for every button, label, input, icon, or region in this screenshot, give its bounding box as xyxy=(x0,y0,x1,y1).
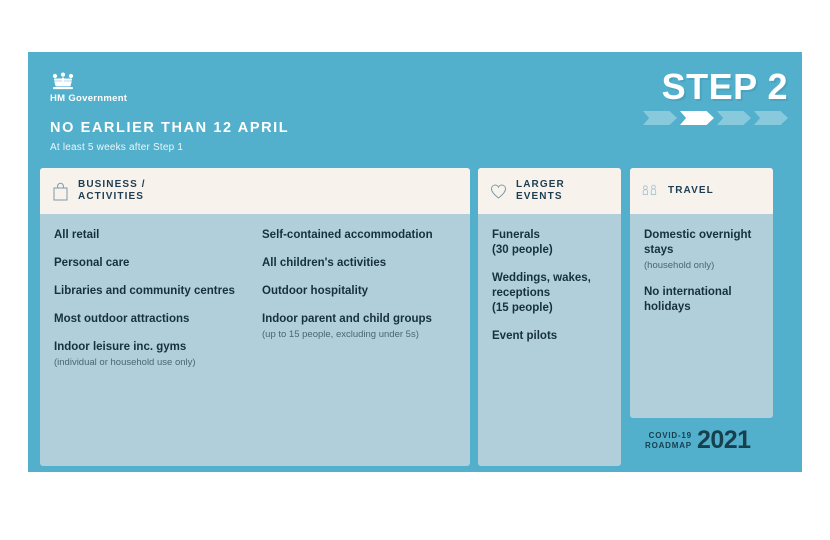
card-larger-events: LARGER EVENTS Funerals (30 people) Weddi… xyxy=(478,168,621,466)
list-item: Self-contained accommodation xyxy=(262,228,456,243)
card-travel: TRAVEL Domestic overnight stays (househo… xyxy=(630,168,773,418)
entry-text: Indoor parent and child groups xyxy=(262,312,456,327)
card-title-business: BUSINESS / ACTIVITIES xyxy=(78,179,146,204)
entry-text: Event pilots xyxy=(492,329,607,344)
shopping-bag-icon xyxy=(52,182,69,201)
royal-crown-icon xyxy=(50,72,76,90)
card-header-travel: TRAVEL xyxy=(630,168,773,214)
list-item: Domestic overnight stays (household only… xyxy=(644,228,759,272)
roadmap-line-2: ROADMAP xyxy=(645,441,692,451)
list-item: Weddings, wakes, receptions (15 people) xyxy=(492,271,607,316)
card-body-travel: Domestic overnight stays (household only… xyxy=(630,214,773,327)
card-business-activities: BUSINESS / ACTIVITIES All retail Persona… xyxy=(40,168,470,466)
list-item: Most outdoor attractions xyxy=(54,312,248,327)
page-title: NO EARLIER THAN 12 APRIL xyxy=(50,120,289,136)
list-item: Indoor leisure inc. gyms (individual or … xyxy=(54,340,248,369)
hm-government-logo: HM Government xyxy=(50,72,230,104)
business-column-2: Self-contained accommodation All childre… xyxy=(262,228,456,369)
entry-text: Self-contained accommodation xyxy=(262,228,456,243)
entry-text: Domestic overnight stays xyxy=(644,228,759,258)
list-item: Event pilots xyxy=(492,329,607,344)
step-progress xyxy=(643,111,788,125)
entry-text: Funerals (30 people) xyxy=(492,228,607,258)
step-chevron-3 xyxy=(717,111,751,125)
card-body-events: Funerals (30 people) Weddings, wakes, re… xyxy=(478,214,621,356)
list-item: All children's activities xyxy=(262,256,456,271)
roadmap-year: 2021 xyxy=(697,428,751,453)
list-item: Funerals (30 people) xyxy=(492,228,607,258)
roadmap-lines: COVID-19 ROADMAP xyxy=(645,431,692,450)
card-title-travel: TRAVEL xyxy=(668,185,714,198)
step-badge: STEP 2 xyxy=(643,68,788,125)
list-item: Personal care xyxy=(54,256,248,271)
list-item: Libraries and community centres xyxy=(54,284,248,299)
entry-text: No international holidays xyxy=(644,285,759,315)
events-column-1: Funerals (30 people) Weddings, wakes, re… xyxy=(492,228,607,344)
gov-name-label: HM Government xyxy=(50,93,230,104)
entry-text: All children's activities xyxy=(262,256,456,271)
business-column-1: All retail Personal care Libraries and c… xyxy=(54,228,248,369)
step-label: STEP 2 xyxy=(643,68,788,106)
step-chevron-4 xyxy=(754,111,788,125)
entry-note: (household only) xyxy=(644,259,759,272)
entry-note: (individual or household use only) xyxy=(54,356,248,369)
travellers-icon xyxy=(642,182,659,201)
entry-text: Personal care xyxy=(54,256,248,271)
covid-roadmap-logo: COVID-19 ROADMAP 2021 xyxy=(645,428,751,453)
step-chevron-1 xyxy=(643,111,677,125)
roadmap-line-1: COVID-19 xyxy=(645,431,692,441)
infographic-canvas: HM Government NO EARLIER THAN 12 APRIL A… xyxy=(0,0,830,540)
list-item: Indoor parent and child groups (up to 15… xyxy=(262,312,456,341)
card-title-events: LARGER EVENTS xyxy=(516,179,565,204)
card-body-business: All retail Personal care Libraries and c… xyxy=(40,214,470,381)
list-item: Outdoor hospitality xyxy=(262,284,456,299)
list-item: All retail xyxy=(54,228,248,243)
travel-column-1: Domestic overnight stays (household only… xyxy=(644,228,759,315)
page-subtitle: At least 5 weeks after Step 1 xyxy=(50,142,183,153)
entry-text: All retail xyxy=(54,228,248,243)
entry-text: Indoor leisure inc. gyms xyxy=(54,340,248,355)
card-header-events: LARGER EVENTS xyxy=(478,168,621,214)
list-item: No international holidays xyxy=(644,285,759,315)
heart-icon xyxy=(490,182,507,201)
entry-text: Weddings, wakes, receptions (15 people) xyxy=(492,271,607,316)
entry-note: (up to 15 people, excluding under 5s) xyxy=(262,328,456,341)
entry-text: Outdoor hospitality xyxy=(262,284,456,299)
step-chevron-2 xyxy=(680,111,714,125)
entry-text: Most outdoor attractions xyxy=(54,312,248,327)
card-header-business: BUSINESS / ACTIVITIES xyxy=(40,168,470,214)
entry-text: Libraries and community centres xyxy=(54,284,248,299)
